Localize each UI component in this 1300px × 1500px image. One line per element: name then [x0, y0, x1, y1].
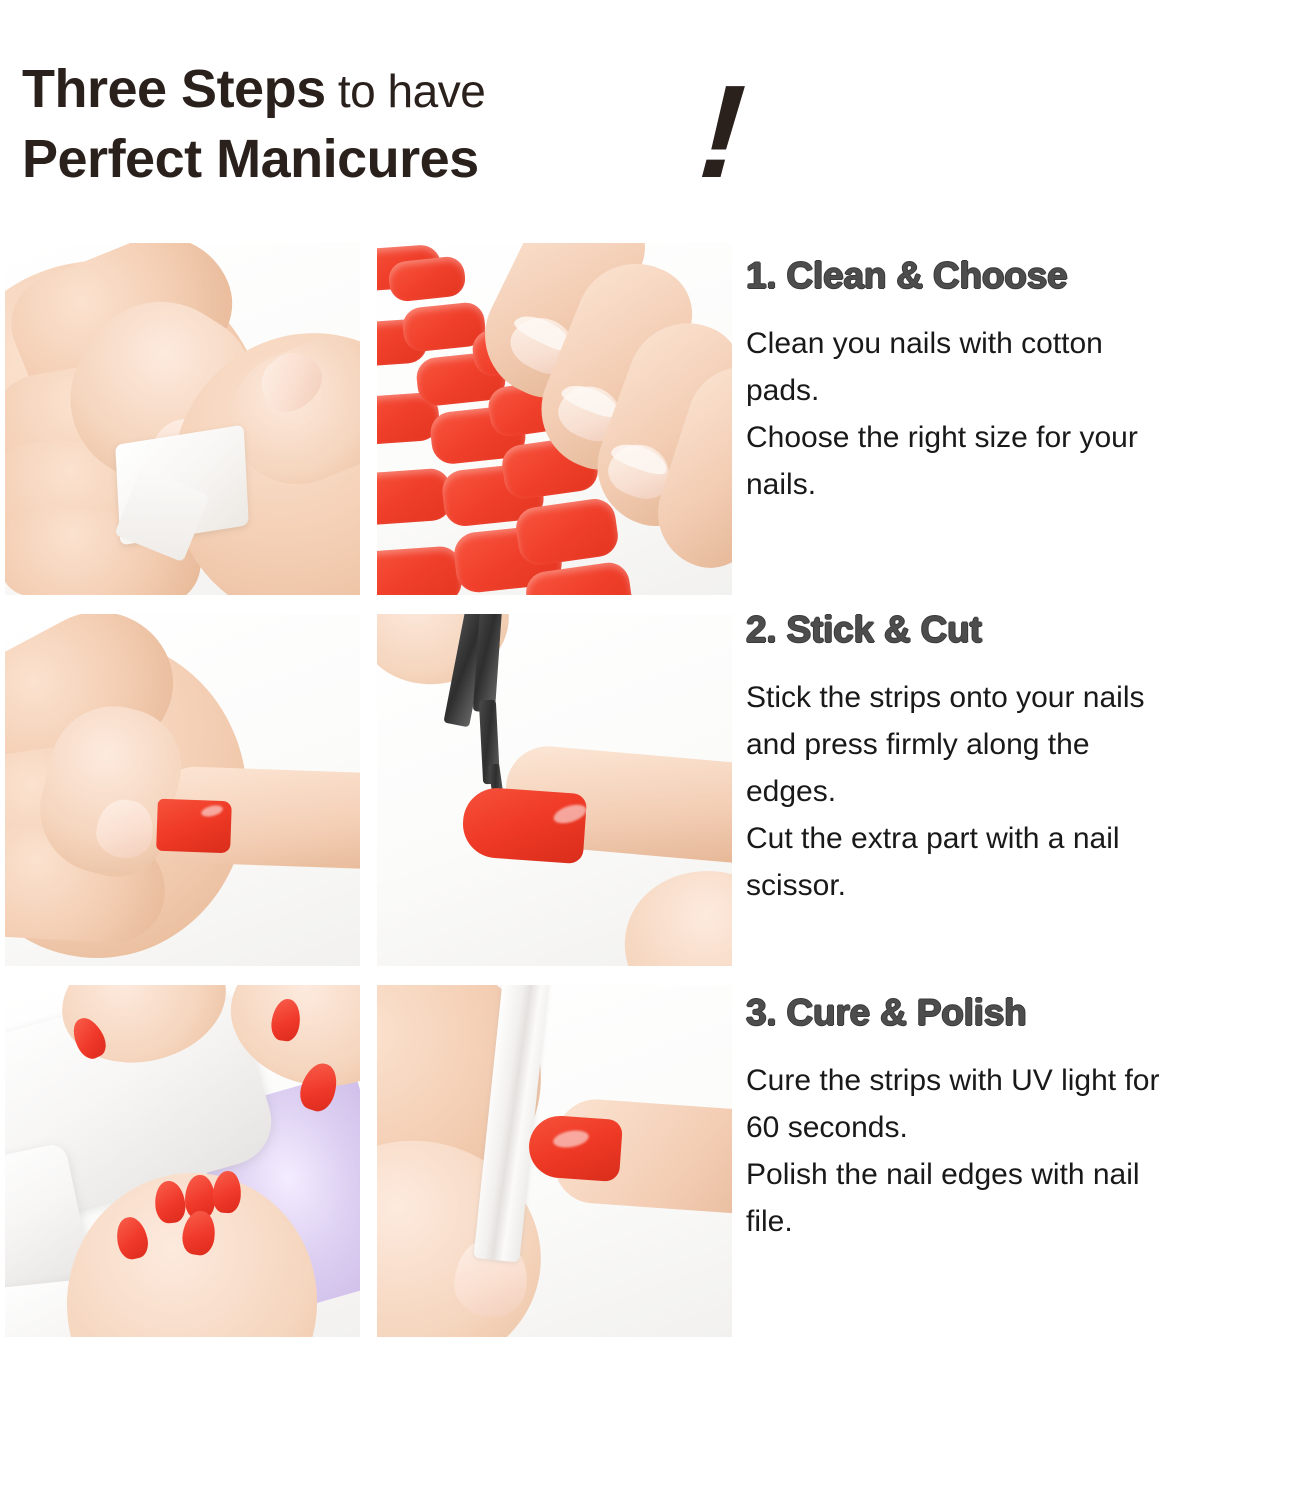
step-2-body: Stick the strips onto your nails and pre… [746, 674, 1298, 909]
step-3-body: Cure the strips with UV light for 60 sec… [746, 1057, 1298, 1245]
step-1-line-1: Clean you nails with cotton [746, 320, 1298, 367]
step-2: 2. Stick & Cut Stick the strips onto you… [746, 609, 1298, 909]
nail-strip-shape [377, 467, 453, 526]
step-3-heading: 3. Cure & Polish [746, 992, 1298, 1034]
step-2-line-2: and press firmly along the [746, 721, 1298, 768]
red-nail-shape [527, 1114, 623, 1182]
title-light-1: to have [326, 65, 486, 117]
step-1-body: Clean you nails with cotton pads. Choose… [746, 320, 1298, 508]
step-1-line-4: nails. [746, 461, 1298, 508]
step-2-line-3: edges. [746, 768, 1298, 815]
photo-stick-strip-on-nail [5, 614, 360, 966]
exclamation-mark: ! [695, 66, 748, 198]
steps-list: 1. Clean & Choose Clean you nails with c… [746, 243, 1298, 1245]
title-strong-1: Three Steps [22, 59, 326, 119]
step-1-heading: 1. Clean & Choose [746, 255, 1298, 297]
step-3-line-2: 60 seconds. [746, 1104, 1298, 1151]
step-2-heading: 2. Stick & Cut [746, 609, 1298, 651]
step-1-line-2: pads. [746, 367, 1298, 414]
step-1: 1. Clean & Choose Clean you nails with c… [746, 255, 1298, 508]
photo-uv-lamp-curing [5, 985, 360, 1337]
step-1-line-3: Choose the right size for your [746, 414, 1298, 461]
photo-cut-with-scissors [377, 614, 732, 966]
step-2-line-1: Stick the strips onto your nails [746, 674, 1298, 721]
photo-grid [5, 243, 732, 1369]
photo-clean-with-cotton-pad [5, 243, 360, 595]
title-strong-2: Perfect Manicures [22, 129, 479, 189]
step-3-line-3: Polish the nail edges with nail [746, 1151, 1298, 1198]
photo-polish-with-nail-file [377, 985, 732, 1337]
photo-nail-strip-sheet [377, 243, 732, 595]
nail-strip-shape [377, 545, 463, 595]
step-2-line-4: Cut the extra part with a nail [746, 815, 1298, 862]
step-3-line-4: file. [746, 1198, 1298, 1245]
step-2-line-5: scissor. [746, 862, 1298, 909]
step-3-line-1: Cure the strips with UV light for [746, 1057, 1298, 1104]
step-3: 3. Cure & Polish Cure the strips with UV… [746, 992, 1298, 1245]
red-nail-shape [461, 786, 588, 864]
